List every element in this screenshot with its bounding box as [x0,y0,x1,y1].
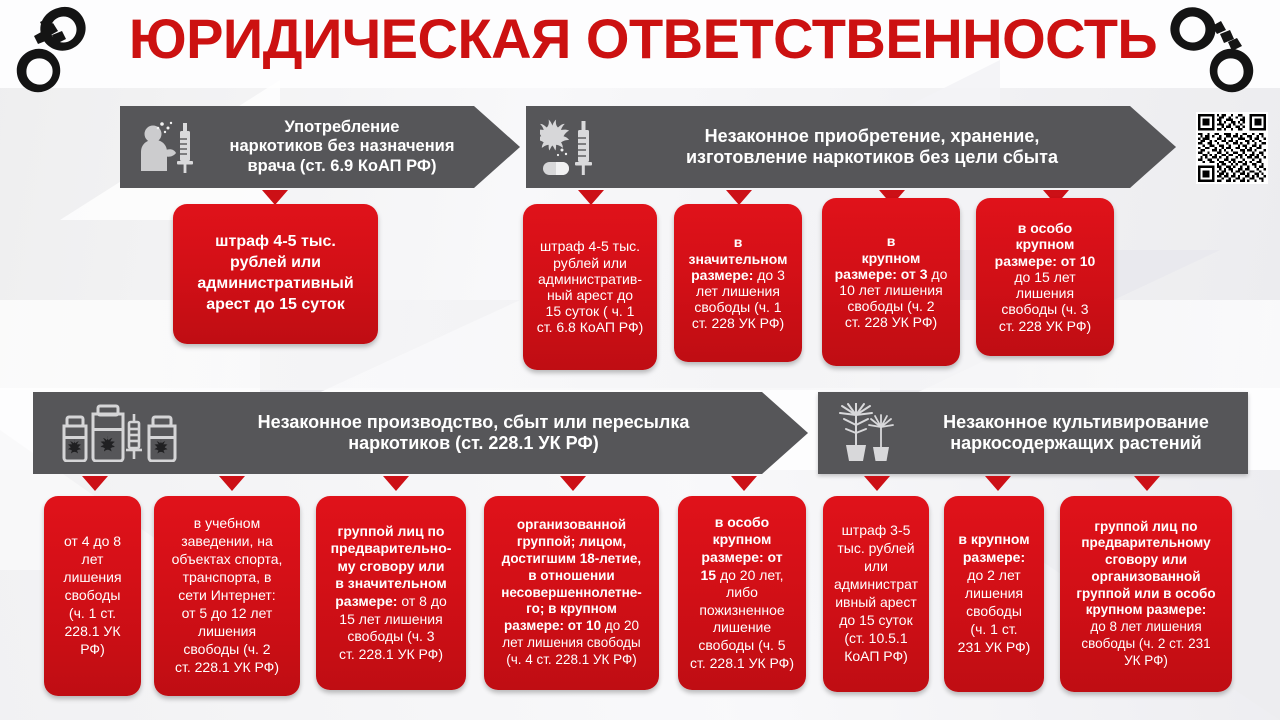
connector-arrow [731,476,757,491]
connector-arrow [262,190,288,205]
connector-arrow [578,190,604,205]
penalty-box-p3-text: группой лиц попредварительно-му сговору … [323,523,459,664]
penalty-box-p4[interactable]: организованнойгруппой; лицом,достигшим 1… [484,496,659,690]
infographic-canvas: ЮРИДИЧЕСКАЯ ОТВЕТСТВЕННОСТЬ [0,0,1280,720]
connector-arrow [219,476,245,491]
connector-arrow [1134,476,1160,491]
connector-arrow [82,476,108,491]
title-bar: ЮРИДИЧЕСКАЯ ОТВЕТСТВЕННОСТЬ [0,0,1280,96]
penalty-box-k2[interactable]: в крупномразмере:до 2 летлишениясвободы(… [944,496,1044,692]
penalty-box-k1[interactable]: штраф 3-5тыс. рублейилиадминистративный … [823,496,929,692]
connector-arrow [726,190,752,205]
qr-code[interactable] [1196,112,1268,184]
handcuffs-icon [14,2,114,94]
penalty-box-p1-text: от 4 до 8летлишениясвободы(ч. 1 ст.228.1… [51,533,134,658]
penalty-box-a1-text: штраф 4-5 тыс.рублей илиадминистратив-ны… [530,238,650,335]
penalty-box-p2[interactable]: в учебномзаведении, наобъектах спорта,тр… [154,496,300,696]
banner-consumption-label: Употребление наркотиков без назначения в… [196,118,520,176]
penalty-box-p2-text: в учебномзаведении, наобъектах спорта,тр… [161,515,293,676]
penalty-box-a3-text: вкрупномразмере: от 3 до10 лет лишениясв… [829,233,953,330]
penalty-box-p4-text: организованнойгруппой; лицом,достигшим 1… [491,517,652,669]
connector-arrow [383,476,409,491]
cannabis-syringe-pill-icon [540,118,606,176]
penalty-box-a4-text: в особокрупномразмере: от 10до 15 летлиш… [983,220,1107,334]
banner-cultivation[interactable]: Незаконное культивирование наркосодержащ… [818,392,1248,474]
penalty-box-a2-text: взначительномразмере: до 3лет лишениясво… [681,234,795,331]
person-injecting-icon [134,119,196,175]
handcuffs-icon [1168,2,1268,94]
banner-consumption[interactable]: Употребление наркотиков без назначения в… [120,106,520,188]
penalty-box-a1[interactable]: штраф 4-5 тыс.рублей илиадминистратив-ны… [523,204,657,370]
penalty-box-k2-text: в крупномразмере:до 2 летлишениясвободы(… [951,531,1037,656]
penalty-box-p1[interactable]: от 4 до 8летлишениясвободы(ч. 1 ст.228.1… [44,496,141,696]
banner-cultivation-label: Незаконное культивирование наркосодержащ… [904,412,1248,454]
penalty-box-a2[interactable]: взначительномразмере: до 3лет лишениясво… [674,204,802,362]
banner-acquisition-label: Незаконное приобретение, хранение, изгот… [606,126,1176,168]
connector-arrow [985,476,1011,491]
page-title: ЮРИДИЧЕСКАЯ ОТВЕТСТВЕННОСТЬ [118,6,1168,71]
banner-acquisition[interactable]: Незаконное приобретение, хранение, изгот… [526,106,1176,188]
penalty-box-k3-text: группой лиц попредварительномусговору ил… [1067,519,1225,670]
jars-syringe-icon [57,404,187,462]
penalty-box-c1-text: штраф 4-5 тыс.рублей илиадминистративный… [180,232,371,315]
penalty-box-p3[interactable]: группой лиц попредварительно-му сговору … [316,496,466,690]
banner-production[interactable]: Незаконное производство, сбыт или пересы… [33,392,808,474]
penalty-box-a3[interactable]: вкрупномразмере: от 3 до10 лет лишениясв… [822,198,960,366]
connector-arrow [864,476,890,491]
potted-plants-icon [834,403,904,463]
penalty-box-k1-text: штраф 3-5тыс. рублейилиадминистративный … [830,522,922,665]
penalty-box-c1[interactable]: штраф 4-5 тыс.рублей илиадминистративный… [173,204,378,344]
penalty-box-a4[interactable]: в особокрупномразмере: от 10до 15 летлиш… [976,198,1114,356]
penalty-box-k3[interactable]: группой лиц попредварительномусговору ил… [1060,496,1232,692]
penalty-box-p5[interactable]: в особокрупномразмере: от15 до 20 лет,ли… [678,496,806,690]
banner-production-label: Незаконное производство, сбыт или пересы… [187,412,808,454]
connector-arrow [560,476,586,491]
penalty-box-p5-text: в особокрупномразмере: от15 до 20 лет,ли… [685,514,799,673]
